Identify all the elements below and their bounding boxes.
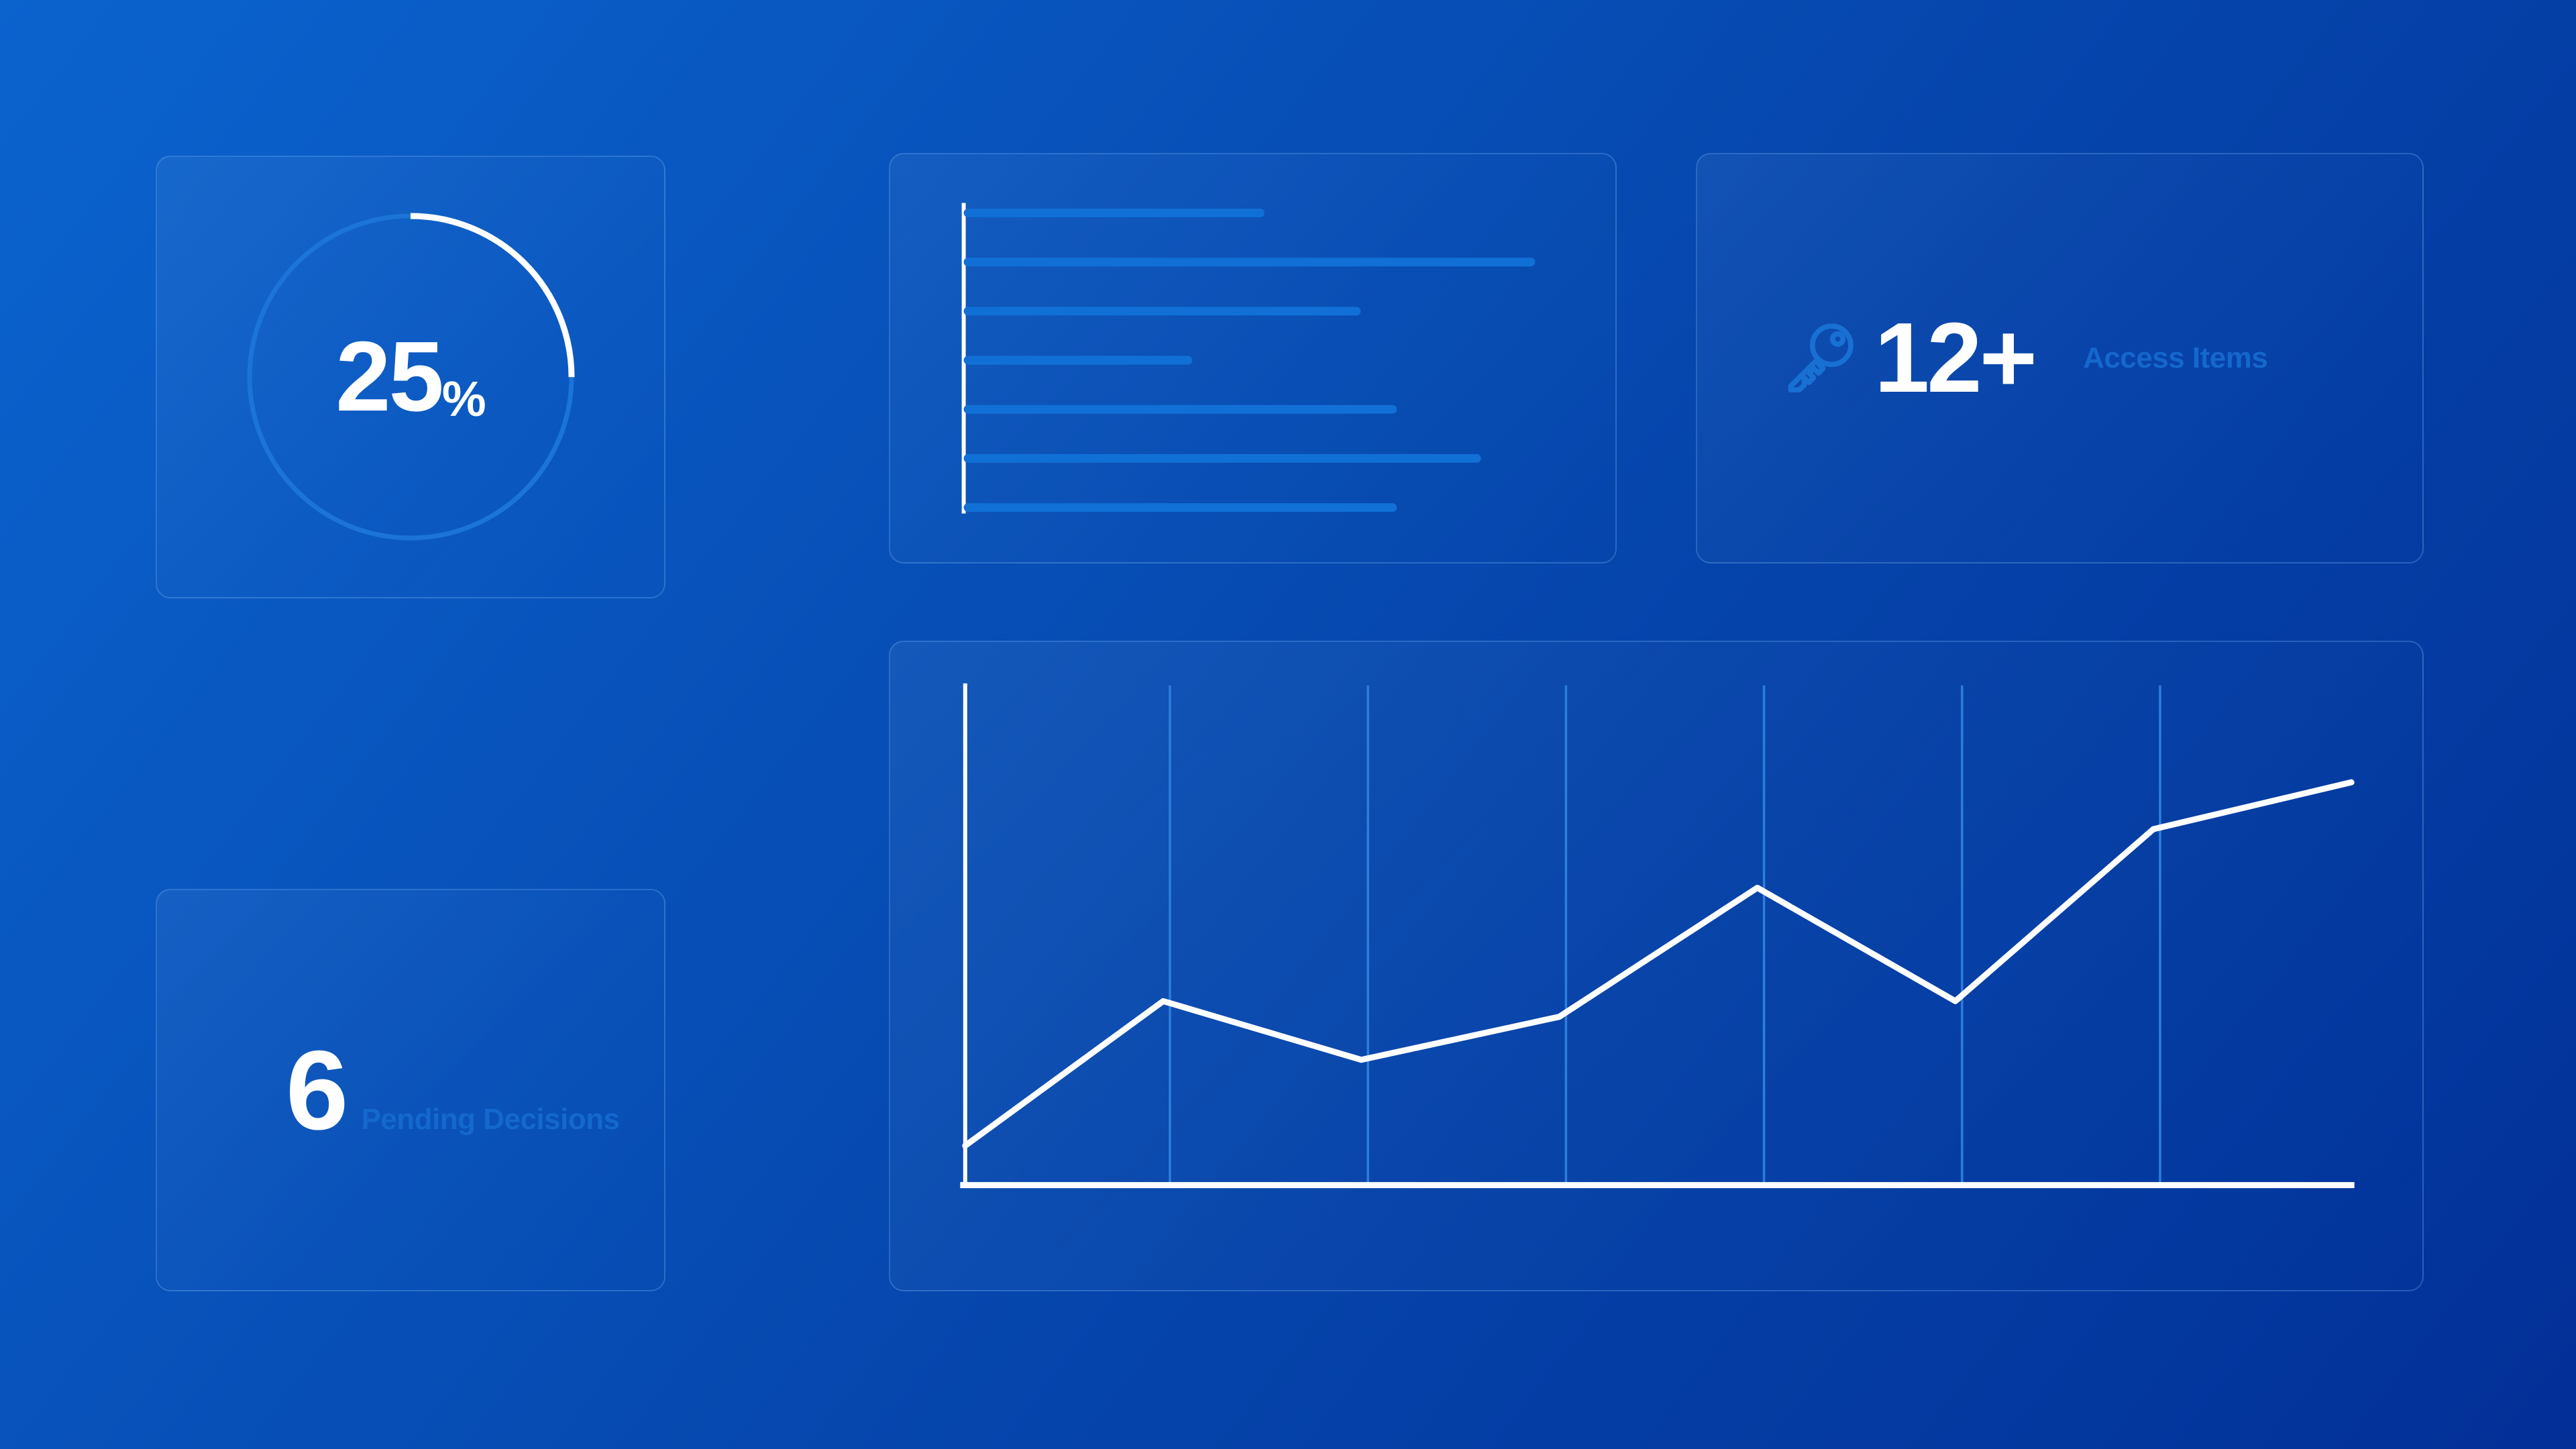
bar-chart-bar	[964, 258, 1536, 266]
bar-chart-bar	[964, 307, 1361, 315]
donut-center-label: 25%	[209, 176, 612, 578]
bar-chart-bar	[964, 356, 1193, 365]
donut-value-number: 25	[335, 327, 442, 427]
trend-chart-line	[965, 782, 2351, 1146]
trend-line-chart-svg	[890, 642, 2422, 1290]
bar-chart-bar	[964, 503, 1397, 512]
pending-decisions-content: 6 Pending Decisions	[157, 1034, 664, 1146]
bar-chart-bar	[964, 454, 1481, 463]
bar-chart-bars	[964, 209, 1536, 512]
access-items-content: 12+ Access Items	[1697, 309, 2422, 408]
donut-value: 25%	[335, 327, 485, 427]
donut-chart: 25%	[209, 176, 612, 578]
trend-chart-gridlines	[1170, 686, 2160, 1185]
trend-line-chart-card[interactable]	[889, 641, 2424, 1291]
donut-value-unit: %	[442, 374, 486, 424]
bar-chart-bar	[964, 405, 1397, 414]
access-items-card[interactable]: 12+ Access Items	[1696, 153, 2424, 563]
completion-donut-card[interactable]: 25%	[156, 156, 665, 598]
pending-decisions-value: 6	[286, 1034, 346, 1146]
access-items-value: 12+	[1874, 309, 2035, 408]
activity-bar-chart-card[interactable]	[889, 153, 1617, 563]
bar-chart-bar	[964, 209, 1265, 217]
pending-decisions-card[interactable]: 6 Pending Decisions	[156, 889, 665, 1291]
dashboard-canvas: 25% 6 Pending Decisions	[0, 0, 2576, 1449]
key-icon	[1779, 319, 1858, 398]
activity-bar-chart-svg	[890, 154, 1615, 562]
access-items-label: Access Items	[2083, 341, 2267, 375]
pending-decisions-label: Pending Decisions	[361, 1103, 619, 1136]
